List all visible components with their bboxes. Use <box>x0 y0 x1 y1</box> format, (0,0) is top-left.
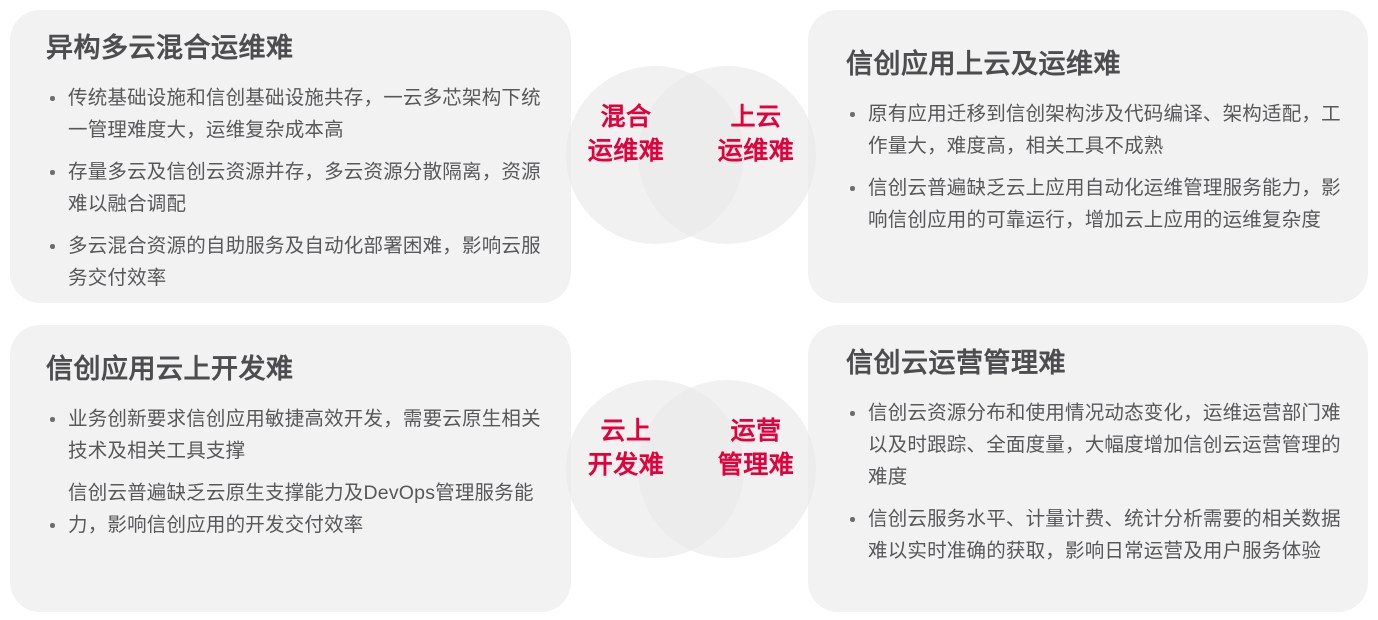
venn-label-hybrid-ops: 混合 运维难 <box>566 100 686 168</box>
card-title: 信创应用云上开发难 <box>46 353 545 385</box>
venn-label-line1: 云上 <box>566 414 686 448</box>
bullet-dot-icon <box>50 244 55 249</box>
diagram-canvas: 异构多云混合运维难 传统基础设施和信创基础设施共存，一云多芯架构下统一管理难度大… <box>0 0 1378 620</box>
list-item: 信创云资源分布和使用情况动态变化，运维运营部门难以及时跟踪、全面度量，大幅度增加… <box>846 397 1342 493</box>
card-heterogeneous-multicloud-ops: 异构多云混合运维难 传统基础设施和信创基础设施共存，一云多芯架构下统一管理难度大… <box>10 10 571 303</box>
list-item-text: 多云混合资源的自助服务及自动化部署困难，影响云服务交付效率 <box>68 235 541 289</box>
bullet-list: 信创云资源分布和使用情况动态变化，运维运营部门难以及时跟踪、全面度量，大幅度增加… <box>846 397 1342 567</box>
list-item: 多云混合资源的自助服务及自动化部署困难，影响云服务交付效率 <box>46 230 545 294</box>
venn-label-line2: 运维难 <box>696 134 816 168</box>
venn-label-cloud-development: 云上 开发难 <box>566 414 686 482</box>
list-item: 存量多云及信创云资源并存，多云资源分散隔离，资源难以融合调配 <box>46 156 545 220</box>
bullet-list: 传统基础设施和信创基础设施共存，一云多芯架构下统一管理难度大，运维复杂成本高 存… <box>46 82 545 294</box>
list-item: 信创云普遍缺乏云上应用自动化运维管理服务能力，影响信创应用的可靠运行，增加云上应… <box>846 172 1342 236</box>
list-item: 信创云服务水平、计量计费、统计分析需要的相关数据难以实时准确的获取，影响日常运营… <box>846 503 1342 567</box>
bullet-dot-icon <box>850 112 855 117</box>
list-item: 传统基础设施和信创基础设施共存，一云多芯架构下统一管理难度大，运维复杂成本高 <box>46 82 545 146</box>
card-xinchuang-app-cloud-migration-ops: 信创应用上云及运维难 原有应用迁移到信创架构涉及代码编译、架构适配，工作量大，难… <box>808 10 1368 303</box>
venn-label-line1: 混合 <box>566 100 686 134</box>
bullet-dot-icon <box>50 417 55 422</box>
card-content: 信创应用上云及运维难 原有应用迁移到信创架构涉及代码编译、架构适配，工作量大，难… <box>846 48 1342 246</box>
list-item-text: 存量多云及信创云资源并存，多云资源分散隔离，资源难以融合调配 <box>68 161 541 215</box>
bullet-list: 业务创新要求信创应用敏捷高效开发，需要云原生相关技术及相关工具支撑 信创云普遍缺… <box>46 403 545 541</box>
list-item-text: 信创云服务水平、计量计费、统计分析需要的相关数据难以实时准确的获取，影响日常运营… <box>868 508 1341 562</box>
card-title: 异构多云混合运维难 <box>46 32 545 64</box>
card-xinchuang-app-cloud-development: 信创应用云上开发难 业务创新要求信创应用敏捷高效开发，需要云原生相关技术及相关工… <box>10 325 571 612</box>
bullet-dot-icon <box>850 186 855 191</box>
bullet-dot-icon <box>50 170 55 175</box>
venn-label-operations-management: 运营 管理难 <box>696 414 816 482</box>
card-content: 信创应用云上开发难 业务创新要求信创应用敏捷高效开发，需要云原生相关技术及相关工… <box>46 353 545 551</box>
venn-label-cloud-migration-ops: 上云 运维难 <box>696 100 816 168</box>
venn-label-line1: 运营 <box>696 414 816 448</box>
list-item-text: 原有应用迁移到信创架构涉及代码编译、架构适配，工作量大，难度高，相关工具不成熟 <box>868 103 1341 157</box>
bullet-list: 原有应用迁移到信创架构涉及代码编译、架构适配，工作量大，难度高，相关工具不成熟 … <box>846 98 1342 236</box>
bullet-dot-icon <box>50 96 55 101</box>
venn-label-line2: 运维难 <box>566 134 686 168</box>
card-title: 信创应用上云及运维难 <box>846 48 1342 80</box>
list-item-text: 传统基础设施和信创基础设施共存，一云多芯架构下统一管理难度大，运维复杂成本高 <box>68 87 541 141</box>
list-item: 信创云普遍缺乏云原生支撑能力及DevOps管理服务能力，影响信创应用的开发交付效… <box>46 477 545 541</box>
bullet-dot-icon <box>50 523 55 528</box>
venn-diagram-top: 混合 运维难 上云 运维难 <box>566 66 816 246</box>
list-item: 原有应用迁移到信创架构涉及代码编译、架构适配，工作量大，难度高，相关工具不成熟 <box>846 98 1342 162</box>
venn-label-line2: 开发难 <box>566 448 686 482</box>
list-item-text: 信创云资源分布和使用情况动态变化，运维运营部门难以及时跟踪、全面度量，大幅度增加… <box>868 402 1341 488</box>
card-xinchuang-cloud-operations-management: 信创云运营管理难 信创云资源分布和使用情况动态变化，运维运营部门难以及时跟踪、全… <box>808 325 1368 612</box>
list-item-text: 信创云普遍缺乏云原生支撑能力及DevOps管理服务能力，影响信创应用的开发交付效… <box>68 482 534 536</box>
bullet-dot-icon <box>850 517 855 522</box>
list-item-text: 业务创新要求信创应用敏捷高效开发，需要云原生相关技术及相关工具支撑 <box>68 408 541 462</box>
card-content: 异构多云混合运维难 传统基础设施和信创基础设施共存，一云多芯架构下统一管理难度大… <box>46 32 545 304</box>
venn-label-line2: 管理难 <box>696 448 816 482</box>
venn-label-line1: 上云 <box>696 100 816 134</box>
bullet-dot-icon <box>850 411 855 416</box>
list-item: 业务创新要求信创应用敏捷高效开发，需要云原生相关技术及相关工具支撑 <box>46 403 545 467</box>
venn-diagram-bottom: 云上 开发难 运营 管理难 <box>566 380 816 560</box>
card-title: 信创云运营管理难 <box>846 347 1342 379</box>
card-content: 信创云运营管理难 信创云资源分布和使用情况动态变化，运维运营部门难以及时跟踪、全… <box>846 347 1342 577</box>
list-item-text: 信创云普遍缺乏云上应用自动化运维管理服务能力，影响信创应用的可靠运行，增加云上应… <box>868 177 1341 231</box>
